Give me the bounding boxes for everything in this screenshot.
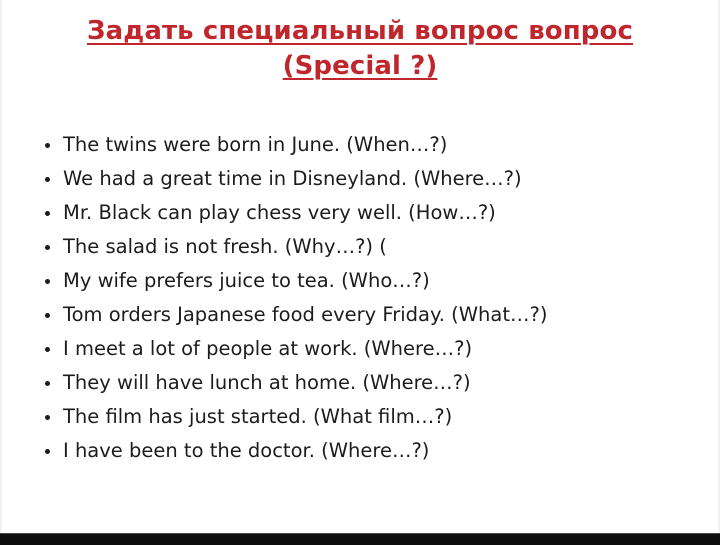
footer-bar bbox=[0, 533, 720, 545]
list-item: I meet a lot of people at work. (Where…?… bbox=[40, 332, 700, 366]
list-item-label: I meet a lot of people at work. (Where…?… bbox=[63, 332, 472, 366]
list-item: The twins were born in June. (When…?) bbox=[40, 128, 700, 162]
list-item: I have been to the doctor. (Where…?) bbox=[40, 434, 700, 468]
list-item-label: They will have lunch at home. (Where…?) bbox=[63, 366, 471, 400]
list-item: The film has just started. (What film…?) bbox=[40, 400, 700, 434]
bullet-dot-icon bbox=[45, 177, 50, 182]
bullet-dot-icon bbox=[45, 449, 50, 454]
bullet-dot-icon bbox=[45, 347, 50, 352]
slide-title-line-1: Задать специальный вопрос вопрос bbox=[87, 14, 633, 48]
slide-title-line-2-wrapper: (Special ?) bbox=[40, 49, 680, 83]
page-edge-left bbox=[0, 0, 2, 533]
slide-title-line-2: (Special ?) bbox=[283, 49, 438, 83]
slide-title: Задать специальный вопрос вопрос (Specia… bbox=[40, 14, 680, 83]
bullet-dot-icon bbox=[45, 211, 50, 216]
list-item: They will have lunch at home. (Where…?) bbox=[40, 366, 700, 400]
slide-canvas: Задать специальный вопрос вопрос (Specia… bbox=[0, 0, 720, 545]
list-item-label: The twins were born in June. (When…?) bbox=[63, 128, 447, 162]
bullet-list: The twins were born in June. (When…?) We… bbox=[40, 128, 700, 468]
list-item: The salad is not fresh. (Why…?) ( bbox=[40, 230, 700, 264]
list-item: My wife prefers juice to tea. (Who…?) bbox=[40, 264, 700, 298]
list-item: Mr. Black can play chess very well. (How… bbox=[40, 196, 700, 230]
list-item-label: Tom orders Japanese food every Friday. (… bbox=[63, 298, 547, 332]
list-item-label: Mr. Black can play chess very well. (How… bbox=[63, 196, 496, 230]
list-item-label: The film has just started. (What film…?) bbox=[63, 400, 452, 434]
list-item: Tom orders Japanese food every Friday. (… bbox=[40, 298, 700, 332]
bullet-dot-icon bbox=[45, 143, 50, 148]
list-item-label: I have been to the doctor. (Where…?) bbox=[63, 434, 429, 468]
bullet-dot-icon bbox=[45, 415, 50, 420]
bullet-dot-icon bbox=[45, 245, 50, 250]
bullet-dot-icon bbox=[45, 279, 50, 284]
list-item-label: We had a great time in Disneyland. (Wher… bbox=[63, 162, 522, 196]
list-item-label: My wife prefers juice to tea. (Who…?) bbox=[63, 264, 430, 298]
list-item: We had a great time in Disneyland. (Wher… bbox=[40, 162, 700, 196]
bullet-dot-icon bbox=[45, 313, 50, 318]
bullet-dot-icon bbox=[45, 381, 50, 386]
list-item-label: The salad is not fresh. (Why…?) ( bbox=[63, 230, 387, 264]
